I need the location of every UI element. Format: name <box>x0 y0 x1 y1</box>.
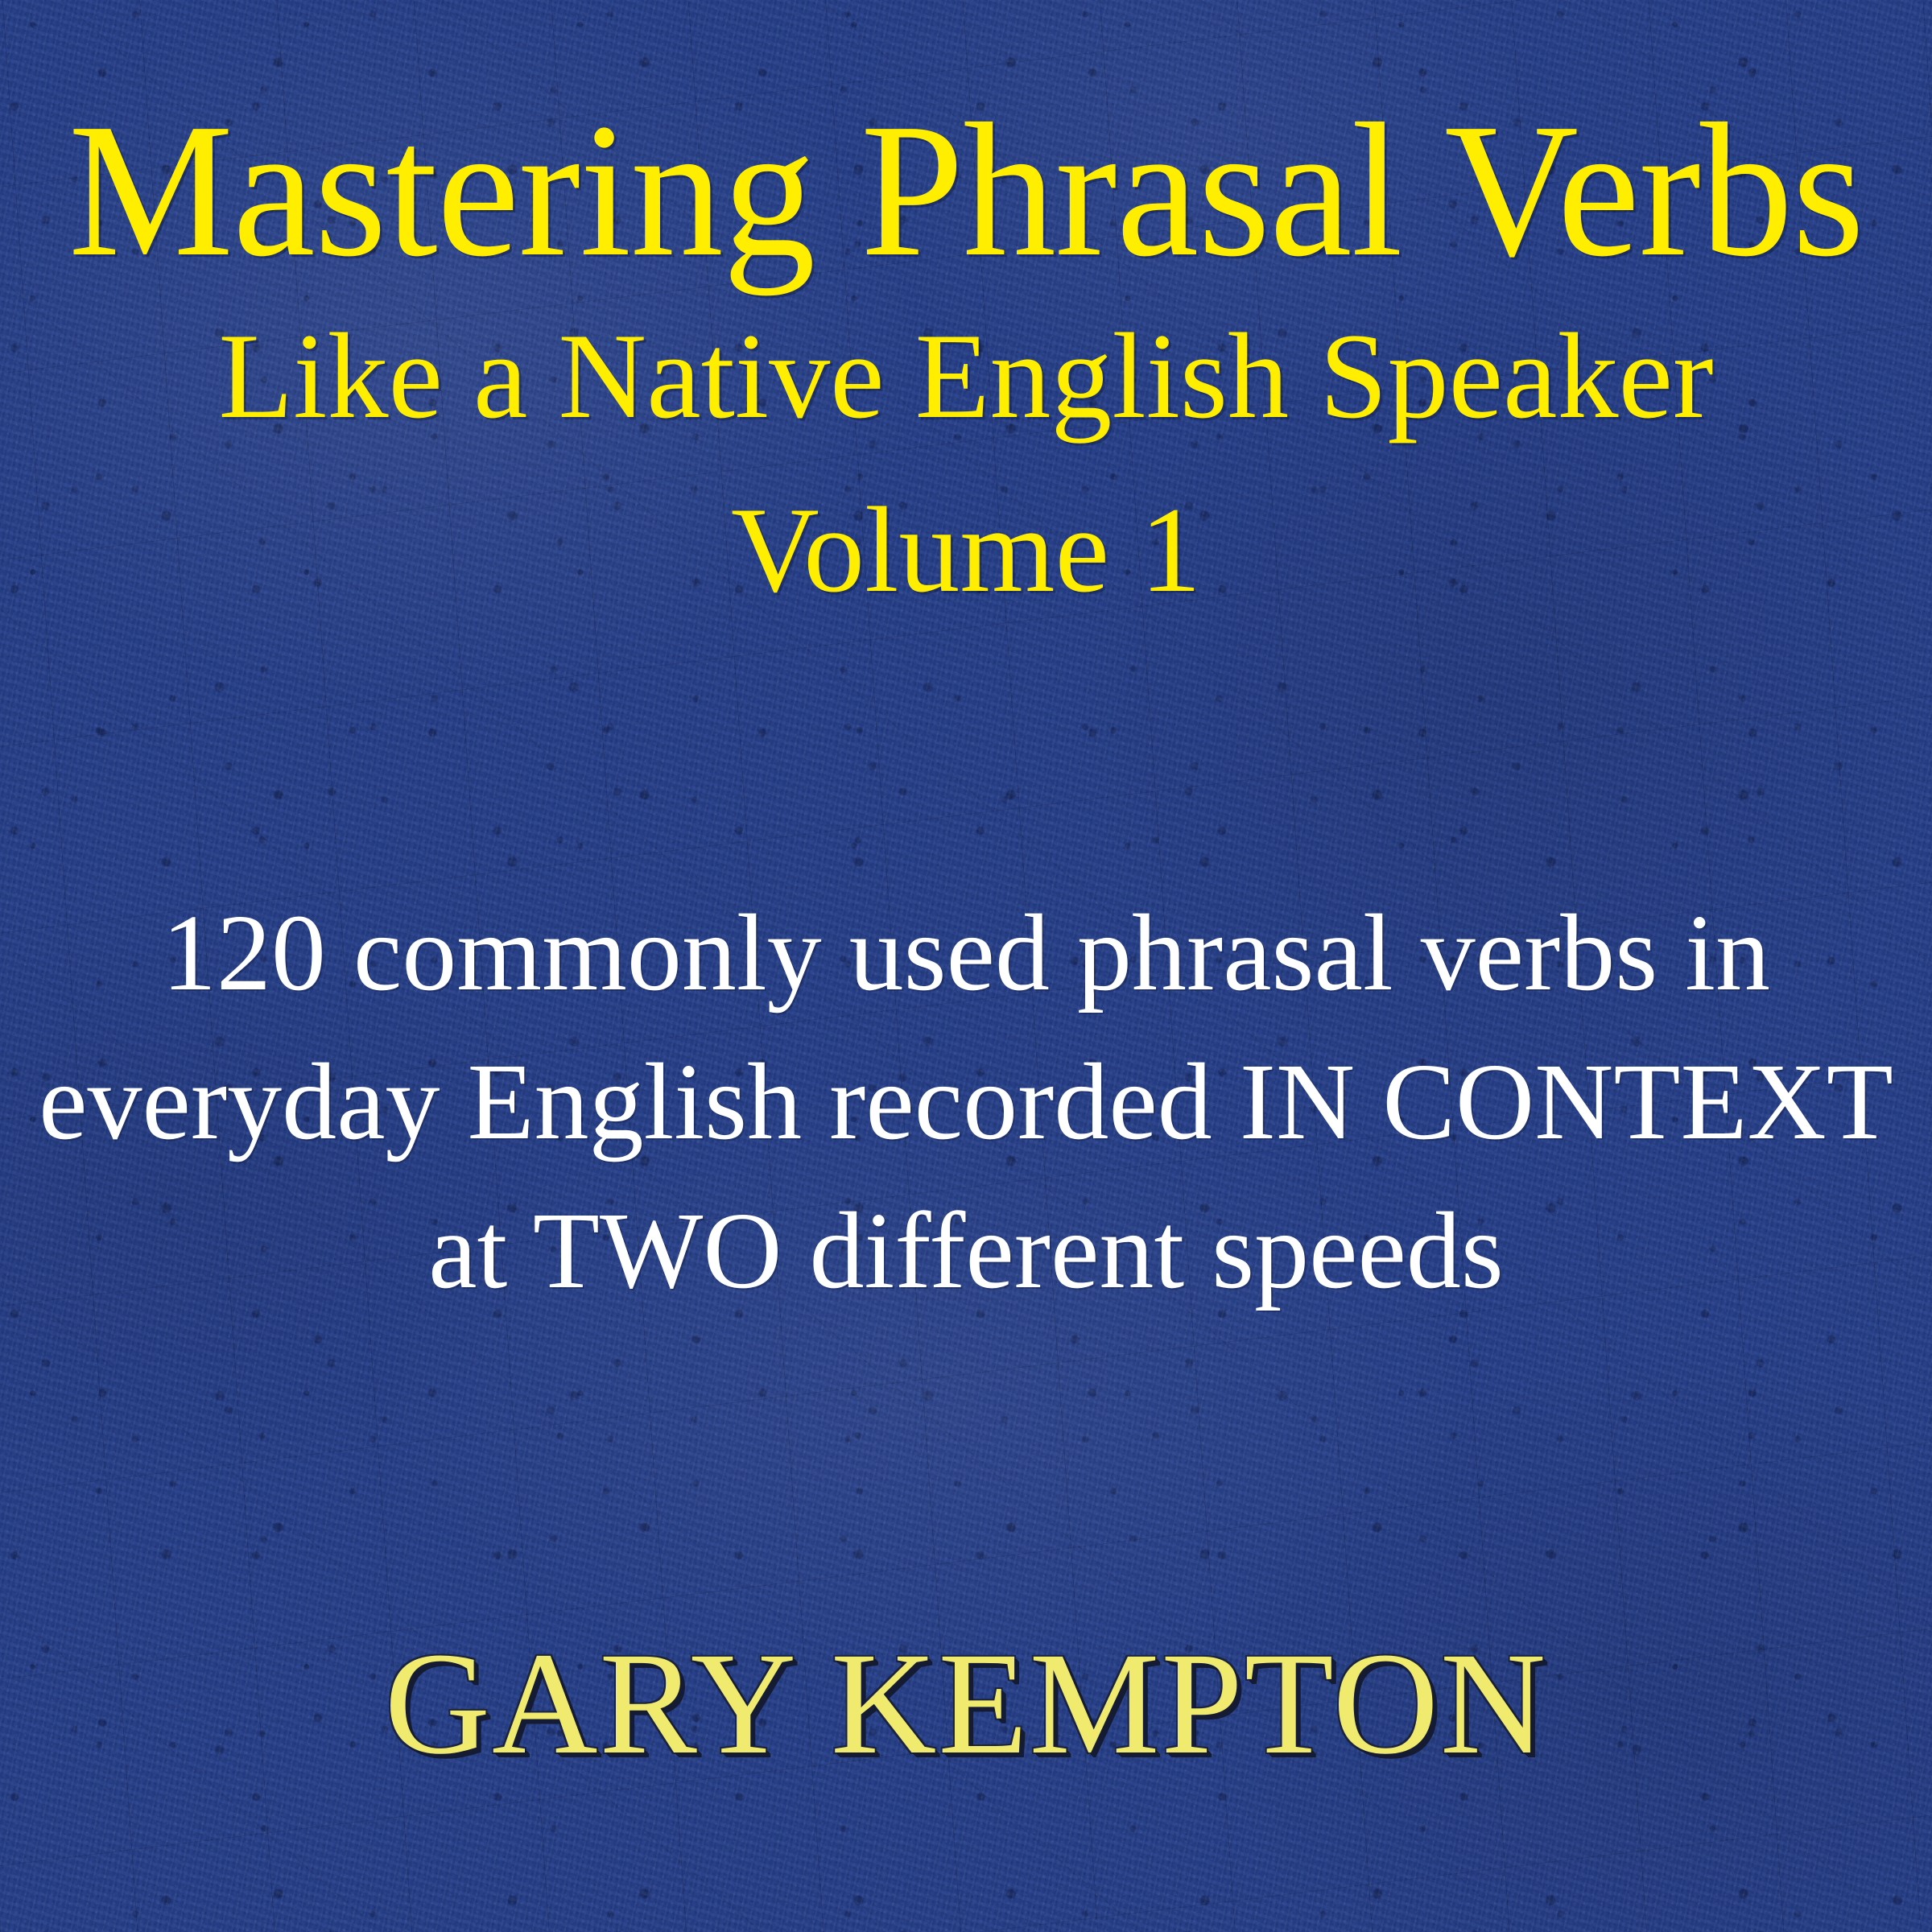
description-block: 120 commonly used phrasal verbs in every… <box>0 879 1932 1326</box>
title-block: Mastering Phrasal Verbs Like a Native En… <box>0 95 1932 618</box>
audiobook-cover: Mastering Phrasal Verbs Like a Native En… <box>0 0 1932 1932</box>
cover-subtitle: Like a Native English Speaker <box>0 308 1932 444</box>
description-line-1: 120 commonly used phrasal verbs in <box>0 879 1932 1028</box>
description-line-3: at TWO different speeds <box>0 1177 1932 1326</box>
author-name: GARY KEMPTON <box>0 1631 1932 1777</box>
author-block: GARY KEMPTON <box>0 1631 1932 1777</box>
cover-volume-label: Volume 1 <box>0 481 1932 618</box>
cover-title: Mastering Phrasal Verbs <box>29 95 1903 287</box>
cover-content: Mastering Phrasal Verbs Like a Native En… <box>0 0 1932 1932</box>
description-line-2: everyday English recorded IN CONTEXT <box>0 1028 1932 1177</box>
